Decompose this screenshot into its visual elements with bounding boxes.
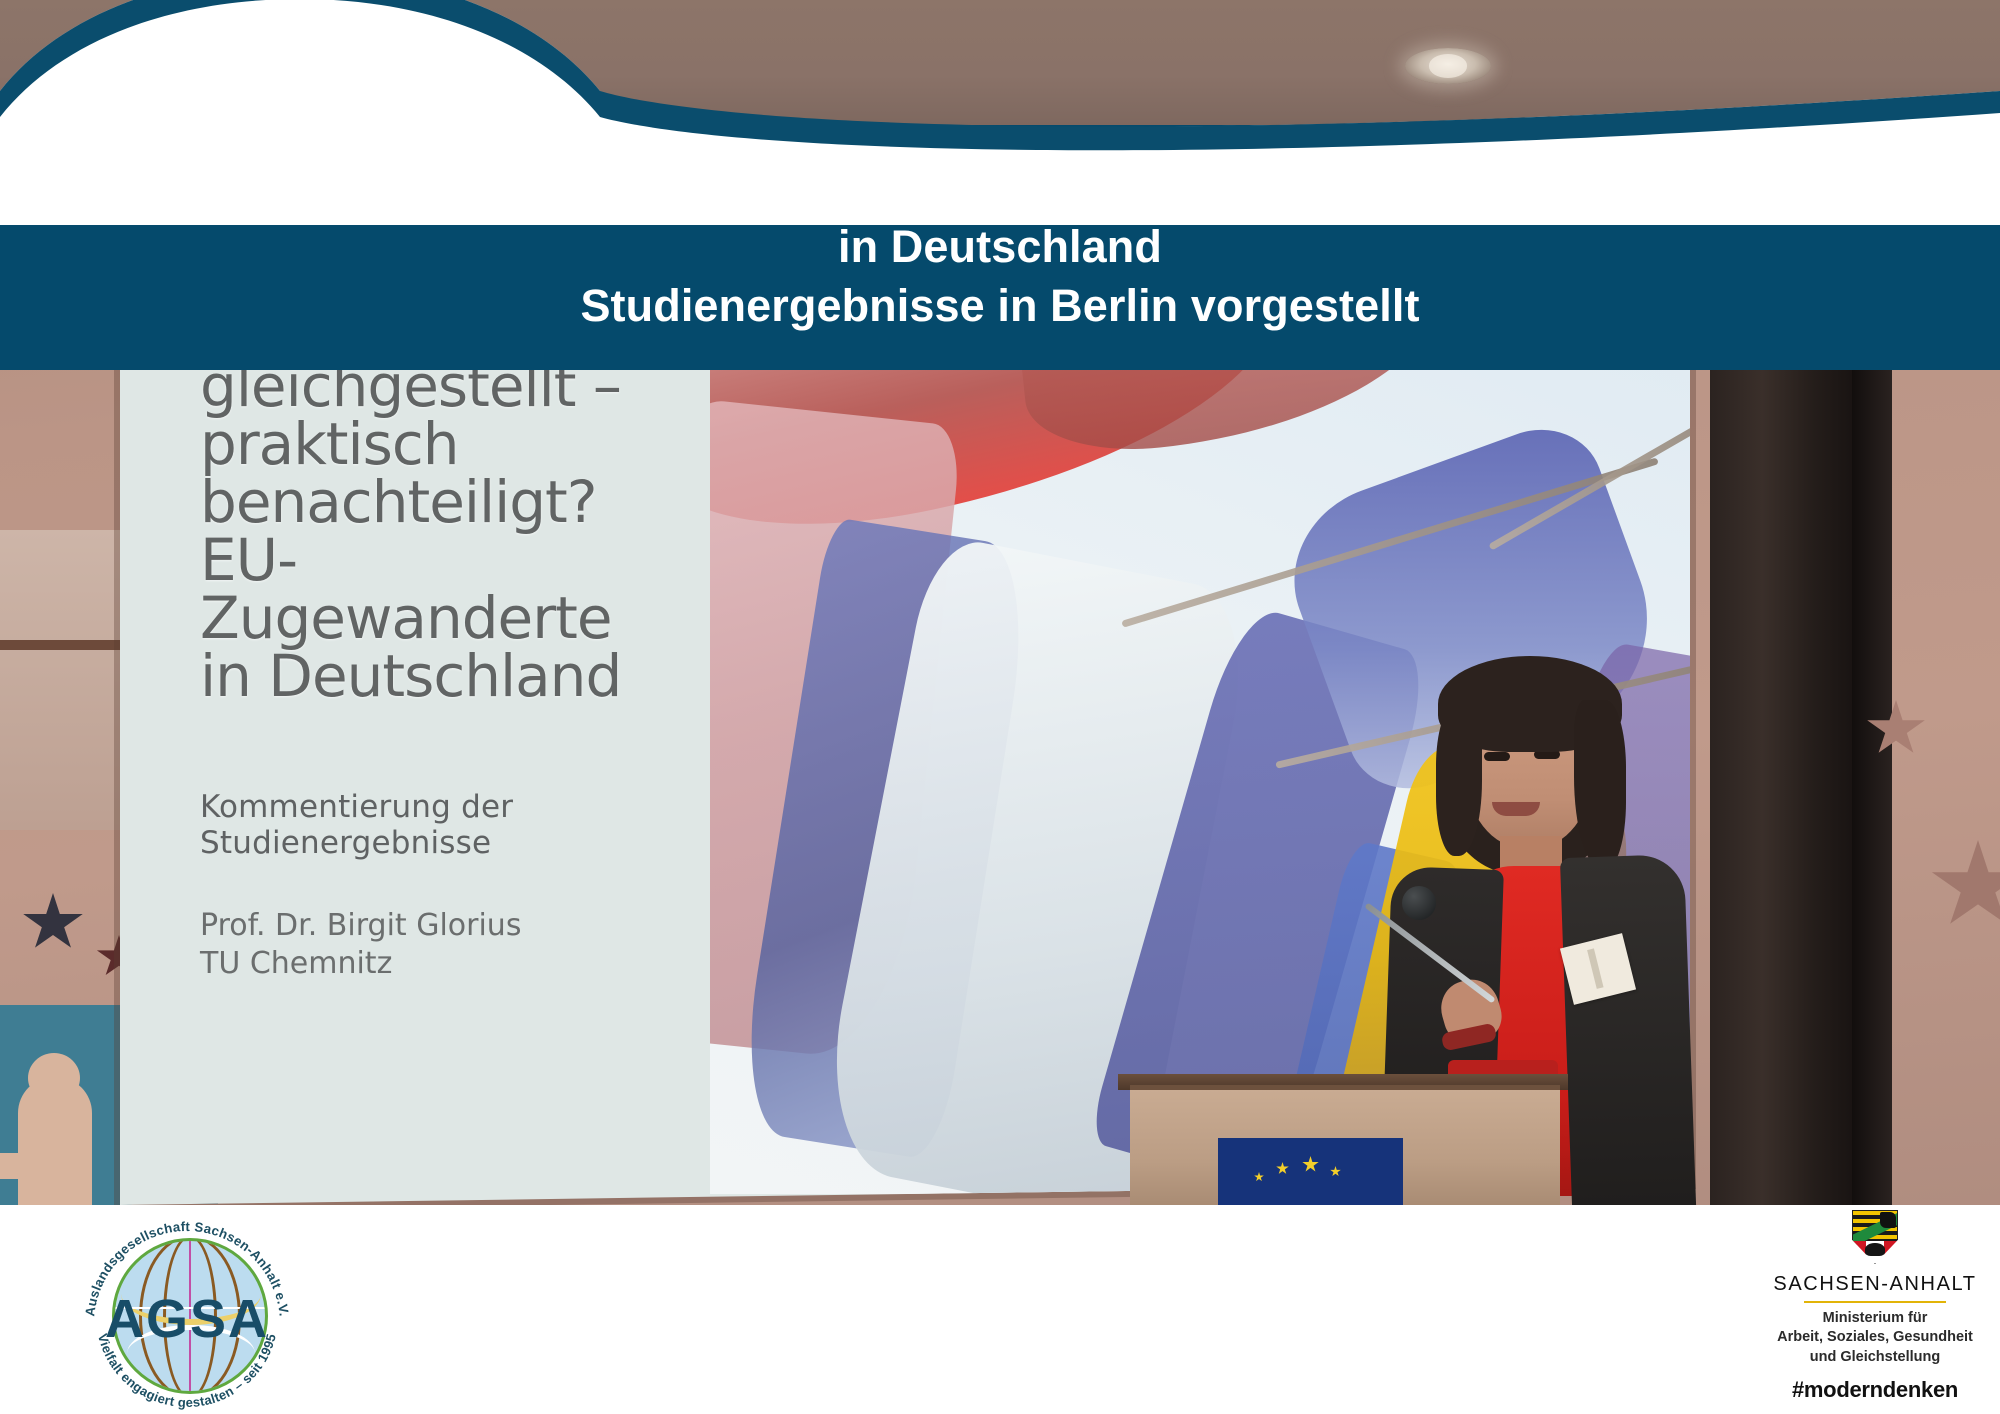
window-frame — [0, 530, 126, 830]
slide-author-affiliation: TU Chemnitz — [200, 945, 760, 983]
speaker-jacket — [1560, 854, 1696, 1205]
slide-title-line: benachteiligt? — [200, 473, 760, 531]
sachsen-anhalt-coat-of-arms-icon — [1852, 1210, 1898, 1264]
ministry-rule — [1804, 1301, 1946, 1303]
footer — [0, 1205, 2000, 1414]
speaker-eye — [1484, 752, 1510, 761]
slide-author-name: Prof. Dr. Birgit Glorius — [200, 907, 760, 945]
speaker-hair-side — [1436, 706, 1482, 856]
slide-text-block: Rechtlich gleichgestellt – praktisch ben… — [200, 299, 760, 984]
ceiling — [0, 0, 2000, 125]
banner-figure-arm — [0, 1153, 30, 1179]
ministry-hashtag: #moderndenken — [1760, 1377, 1990, 1403]
agsa-acronym: AGSA — [78, 1288, 296, 1350]
window-mullion — [0, 640, 120, 650]
slide-author: Prof. Dr. Birgit Glorius TU Chemnitz — [200, 907, 760, 984]
poster-root: Rechtlich gleichgestellt – praktisch ben… — [0, 0, 2000, 1414]
ministry-line-3: und Gleichstellung — [1760, 1348, 1990, 1367]
ministry-state-name: SACHSEN-ANHALT — [1760, 1273, 1990, 1296]
title-line-1: Rechtlich gleichgestellt – praktisch ben… — [264, 163, 1736, 214]
ministry-line-2: Arbeit, Soziales, Gesundheit — [1760, 1328, 1990, 1347]
microphone-icon — [1402, 886, 1436, 920]
curtain-edge — [1852, 330, 1892, 1205]
page-title: Rechtlich gleichgestellt – praktisch ben… — [204, 160, 1796, 336]
slide-title-line: EU- — [200, 531, 760, 589]
slide-subtitle: Kommentierung der Studienergebnisse — [200, 789, 760, 861]
ministry-line-1: Ministerium für — [1760, 1309, 1990, 1328]
ministry-logo: SACHSEN-ANHALT Ministerium für Arbeit, S… — [1760, 1210, 1990, 1406]
title-banner: Rechtlich gleichgestellt – praktisch ben… — [0, 125, 2000, 370]
slide-title-line: Zugewanderte — [200, 589, 760, 647]
curtain — [1710, 330, 1860, 1205]
ceiling-light-icon — [1405, 48, 1491, 84]
agsa-logo: Auslandsgesellschaft Sachsen-Anhalt e.V.… — [78, 1212, 296, 1412]
ministry-department: Ministerium für Arbeit, Soziales, Gesund… — [1760, 1309, 1990, 1367]
eu-flag-plaque-icon — [1218, 1138, 1403, 1205]
slide-title-line: in Deutschland — [200, 647, 760, 705]
title-line-3: Studienergebnisse in Berlin vorgestellt — [264, 277, 1736, 336]
banner-figure-body — [18, 1077, 92, 1205]
speaker-mouth — [1492, 802, 1540, 816]
slide-title-line: praktisch — [200, 415, 760, 473]
title-line-2: in Deutschland — [264, 218, 1736, 277]
